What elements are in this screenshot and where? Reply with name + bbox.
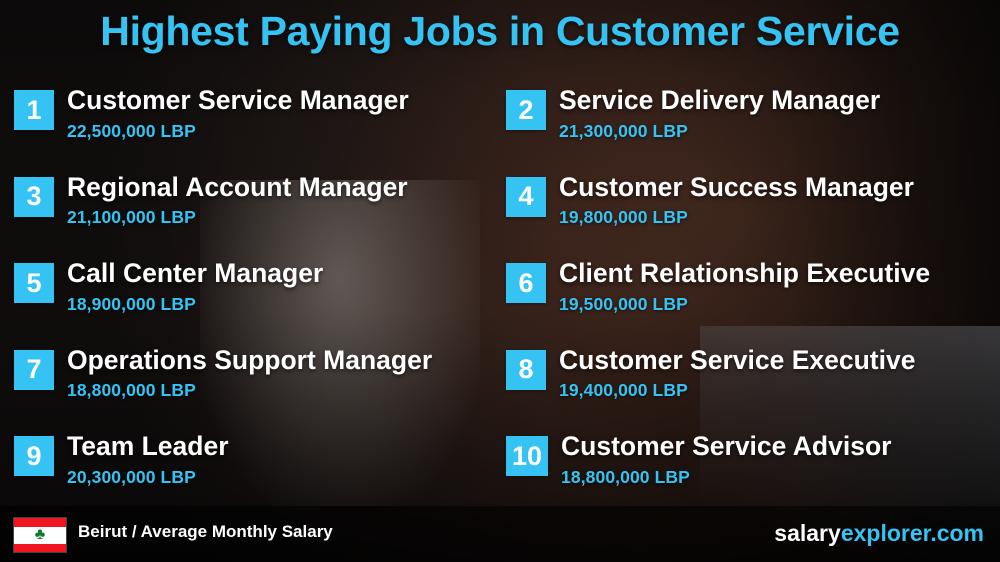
- flag-band-bottom: [14, 544, 66, 553]
- brand-logo[interactable]: salaryexplorer.com: [774, 520, 984, 547]
- job-title: Customer Success Manager: [559, 173, 914, 202]
- rank-badge: 6: [506, 263, 546, 303]
- footer-label: Beirut / Average Monthly Salary: [78, 522, 333, 542]
- list-item: 3 Regional Account Manager 21,100,000 LB…: [14, 173, 494, 260]
- job-salary: 18,800,000 LBP: [561, 467, 891, 488]
- job-salary: 19,800,000 LBP: [559, 207, 914, 228]
- page-title: Highest Paying Jobs in Customer Service: [0, 8, 1000, 55]
- lebanon-flag-icon: ♣: [14, 518, 66, 552]
- rank-badge: 3: [14, 177, 54, 217]
- list-item: 5 Call Center Manager 18,900,000 LBP: [14, 259, 494, 346]
- job-salary: 21,100,000 LBP: [67, 207, 408, 228]
- job-title: Service Delivery Manager: [559, 86, 880, 115]
- list-item-texts: Team Leader 20,300,000 LBP: [67, 432, 229, 488]
- rank-badge: 5: [14, 263, 54, 303]
- list-item: 8 Customer Service Executive 19,400,000 …: [506, 346, 986, 433]
- list-item-texts: Service Delivery Manager 21,300,000 LBP: [559, 86, 880, 142]
- rank-badge: 10: [506, 436, 548, 476]
- job-salary: 19,400,000 LBP: [559, 380, 915, 401]
- job-salary: 21,300,000 LBP: [559, 121, 880, 142]
- list-item: 4 Customer Success Manager 19,800,000 LB…: [506, 173, 986, 260]
- job-title: Call Center Manager: [67, 259, 323, 288]
- job-title: Customer Service Executive: [559, 346, 915, 375]
- list-item: 7 Operations Support Manager 18,800,000 …: [14, 346, 494, 433]
- rank-badge: 2: [506, 90, 546, 130]
- job-title: Customer Service Advisor: [561, 432, 891, 461]
- poster: Highest Paying Jobs in Customer Service …: [0, 0, 1000, 562]
- footer-bar: ♣ Beirut / Average Monthly Salary salary…: [0, 506, 1000, 562]
- job-salary: 20,300,000 LBP: [67, 467, 229, 488]
- list-item: 6 Client Relationship Executive 19,500,0…: [506, 259, 986, 346]
- list-item-texts: Operations Support Manager 18,800,000 LB…: [67, 346, 432, 402]
- job-title: Operations Support Manager: [67, 346, 432, 375]
- job-salary: 22,500,000 LBP: [67, 121, 409, 142]
- job-title: Team Leader: [67, 432, 229, 461]
- job-title: Client Relationship Executive: [559, 259, 930, 288]
- cedar-tree-icon: ♣: [35, 527, 46, 543]
- list-item-texts: Customer Service Executive 19,400,000 LB…: [559, 346, 915, 402]
- job-salary: 19,500,000 LBP: [559, 294, 930, 315]
- list-item: 2 Service Delivery Manager 21,300,000 LB…: [506, 86, 986, 173]
- list-item: 1 Customer Service Manager 22,500,000 LB…: [14, 86, 494, 173]
- list-item-texts: Customer Success Manager 19,800,000 LBP: [559, 173, 914, 229]
- list-item-texts: Customer Service Manager 22,500,000 LBP: [67, 86, 409, 142]
- job-salary: 18,800,000 LBP: [67, 380, 432, 401]
- brand-dotcom: .com: [930, 520, 984, 546]
- poster-content: Highest Paying Jobs in Customer Service …: [0, 0, 1000, 562]
- rank-badge: 1: [14, 90, 54, 130]
- brand-explorer: explorer: [841, 520, 931, 546]
- job-salary: 18,900,000 LBP: [67, 294, 323, 315]
- list-item-texts: Call Center Manager 18,900,000 LBP: [67, 259, 323, 315]
- list-item-texts: Regional Account Manager 21,100,000 LBP: [67, 173, 408, 229]
- flag-band-middle: ♣: [14, 527, 66, 544]
- rank-badge: 9: [14, 436, 54, 476]
- brand-salary: salary: [774, 520, 841, 546]
- jobs-list: 1 Customer Service Manager 22,500,000 LB…: [14, 86, 986, 519]
- job-title: Customer Service Manager: [67, 86, 409, 115]
- rank-badge: 8: [506, 350, 546, 390]
- rank-badge: 7: [14, 350, 54, 390]
- job-title: Regional Account Manager: [67, 173, 408, 202]
- list-item-texts: Customer Service Advisor 18,800,000 LBP: [561, 432, 891, 488]
- rank-badge: 4: [506, 177, 546, 217]
- list-item-texts: Client Relationship Executive 19,500,000…: [559, 259, 930, 315]
